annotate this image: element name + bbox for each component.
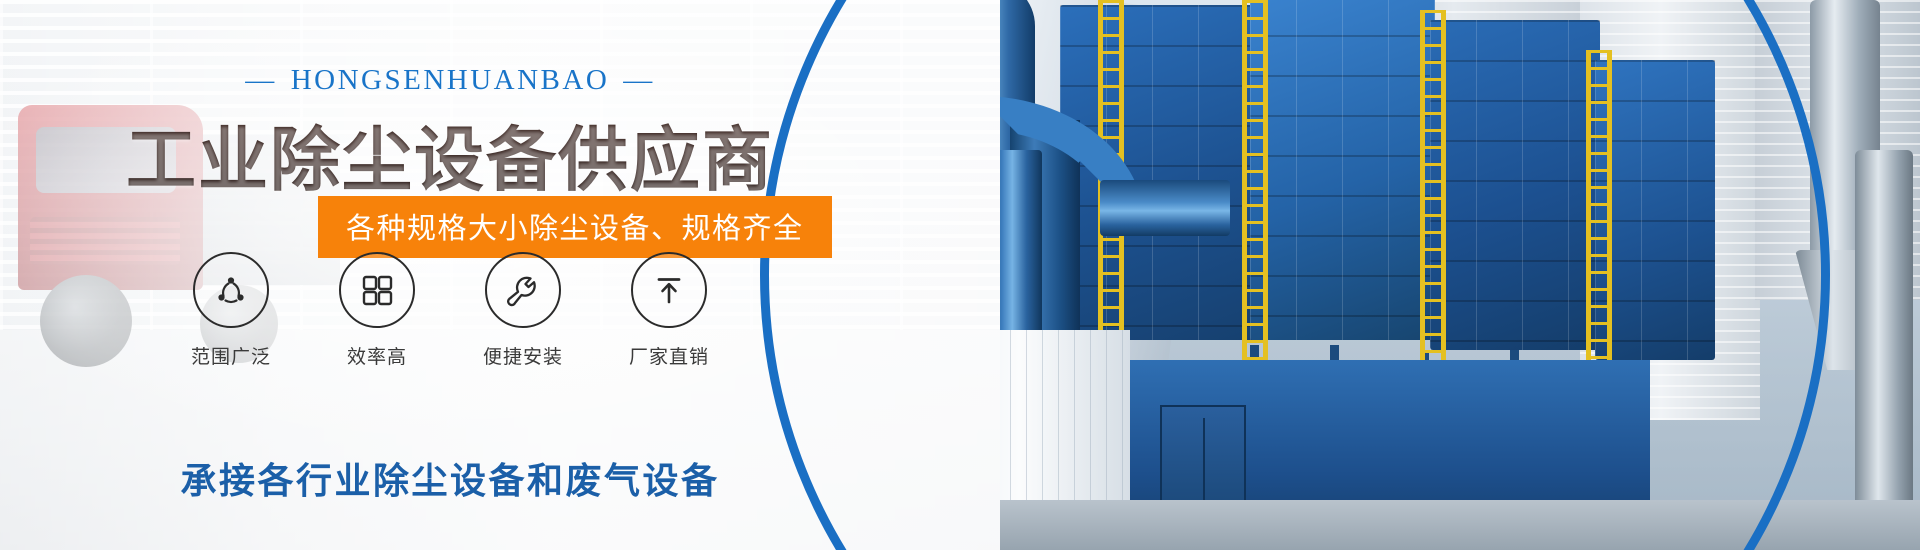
eyebrow-dash-right: — xyxy=(623,64,655,97)
yellow-ladder xyxy=(1586,50,1612,360)
hero-banner: —HONGSENHUANBAO— 工业除尘设备供应商 各种规格大小除尘设备、规格… xyxy=(0,0,1920,550)
feature-item-high-efficiency[interactable]: 效率高 xyxy=(335,252,419,369)
yellow-ladder xyxy=(1242,0,1268,360)
wrench-icon xyxy=(503,270,543,310)
feature-icon-circle xyxy=(485,252,561,328)
feature-list: 范围广泛 效率高 xyxy=(0,252,900,369)
upload-arrow-icon xyxy=(650,271,688,309)
feature-item-factory-direct[interactable]: 厂家直销 xyxy=(627,252,711,369)
feature-label: 便捷安装 xyxy=(481,342,565,369)
feature-item-easy-install[interactable]: 便捷安装 xyxy=(481,252,565,369)
baghouse-unit-3 xyxy=(1430,20,1600,350)
grid-four-squares-icon xyxy=(358,271,396,309)
headline: 工业除尘设备供应商 xyxy=(0,104,900,205)
baghouse-unit-4 xyxy=(1595,60,1715,360)
feature-icon-circle xyxy=(631,252,707,328)
photo-ground xyxy=(950,500,1920,550)
blue-horizontal-pipe xyxy=(1100,180,1230,236)
banner-content: —HONGSENHUANBAO— 工业除尘设备供应商 各种规格大小除尘设备、规格… xyxy=(0,0,960,550)
subtitle-text: 各种规格大小除尘设备、规格齐全 xyxy=(346,213,804,245)
steel-duct-2 xyxy=(1855,150,1913,550)
eyebrow-text: HONGSENHUANBAO xyxy=(291,64,610,96)
baghouse-unit-2 xyxy=(1250,0,1435,340)
brand-eyebrow: —HONGSENHUANBAO— xyxy=(0,64,900,97)
feature-label: 厂家直销 xyxy=(627,342,711,369)
feature-label: 效率高 xyxy=(335,342,419,369)
tagline: 承接各行业除尘设备和废气设备 xyxy=(0,452,900,504)
feature-icon-circle xyxy=(339,252,415,328)
share-network-icon xyxy=(211,270,251,310)
eyebrow-dash-left: — xyxy=(245,64,277,97)
factory-photo xyxy=(950,0,1920,550)
yellow-ladder xyxy=(1420,10,1446,360)
subtitle-orange-bar: 各种规格大小除尘设备、规格齐全 xyxy=(318,196,832,258)
feature-label: 范围广泛 xyxy=(189,342,273,369)
feature-item-wide-range[interactable]: 范围广泛 xyxy=(189,252,273,369)
feature-icon-circle xyxy=(193,252,269,328)
